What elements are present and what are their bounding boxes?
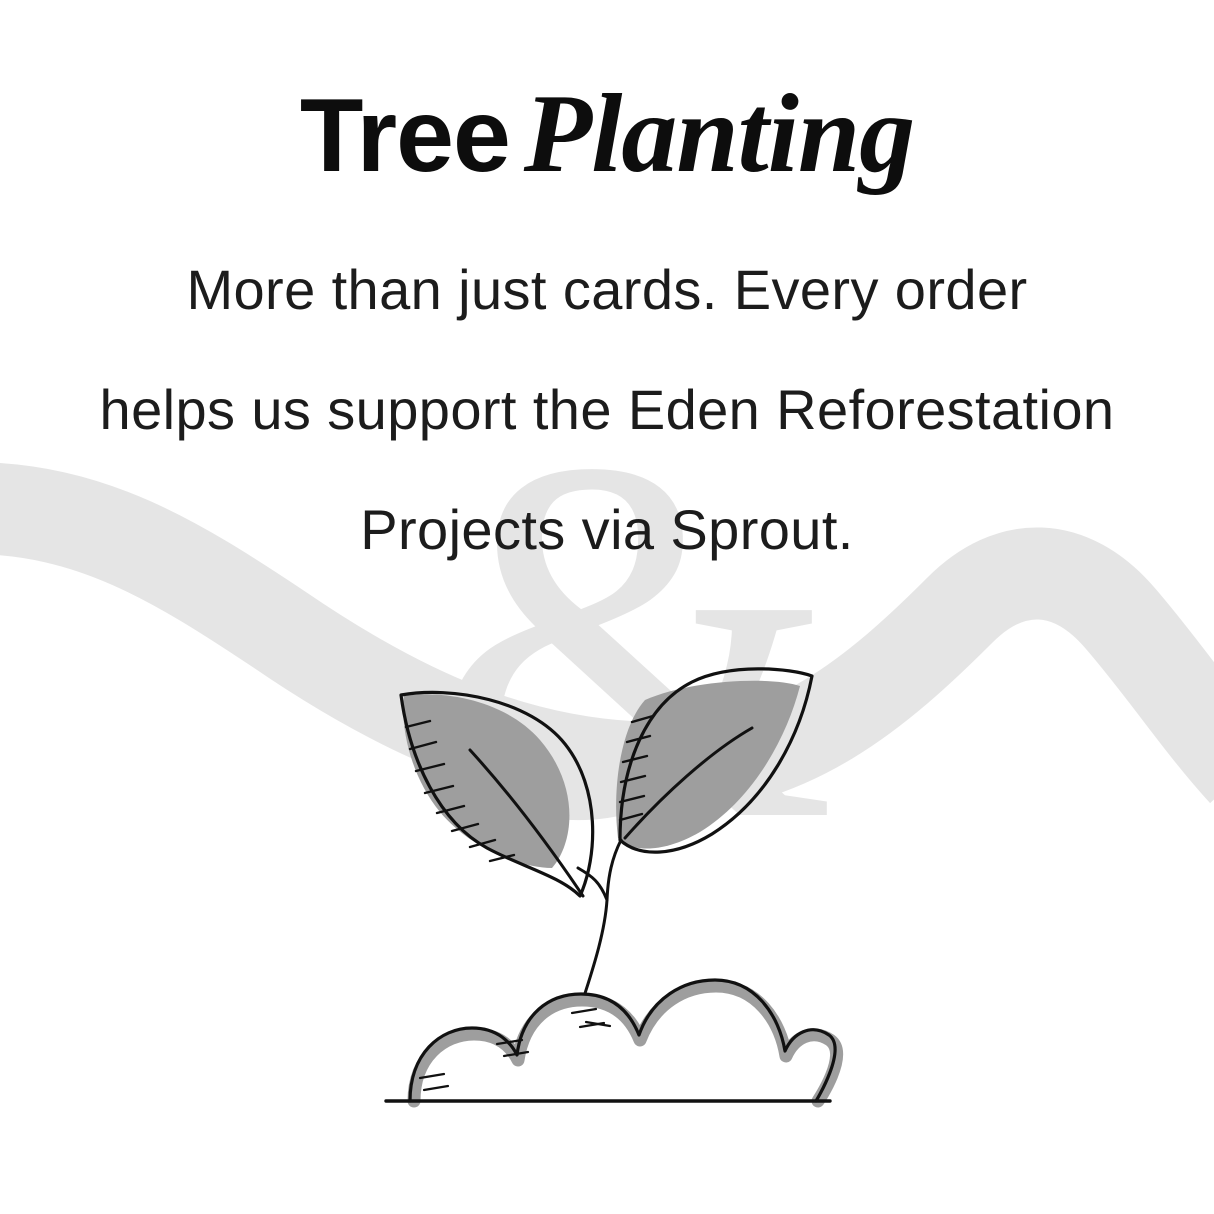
tree-planting-card: & TreePlanting More than just cards. Eve…	[0, 0, 1214, 1214]
right-leaf	[616, 669, 812, 852]
soil-mound-body	[414, 986, 837, 1101]
left-leaf-vein	[470, 750, 583, 896]
text-block: TreePlanting More than just cards. Every…	[0, 0, 1214, 590]
stem-branch-right	[607, 840, 621, 900]
left-leaf-fill	[403, 694, 569, 868]
right-leaf-hatching	[620, 716, 653, 820]
soil-mound-shadow	[414, 986, 837, 1101]
right-leaf-outline	[620, 669, 812, 852]
stem-stalk	[578, 900, 607, 1018]
stem-branch-left	[578, 868, 607, 900]
soil-texture-ticks	[420, 1009, 610, 1090]
stem	[578, 840, 621, 1018]
title-word-accent: Planting	[524, 72, 914, 196]
right-leaf-fill	[616, 681, 800, 849]
soil-mound	[410, 980, 837, 1101]
page-title: TreePlanting	[0, 0, 1214, 190]
title-word-primary: Tree	[300, 78, 510, 194]
right-leaf-vein	[625, 728, 752, 838]
left-leaf-hatching	[406, 721, 514, 861]
left-leaf-outline	[401, 692, 593, 896]
left-leaf	[401, 692, 593, 896]
subtitle: More than just cards. Every order helps …	[0, 190, 1214, 590]
subtitle-line-1: More than just cards. Every order	[0, 230, 1214, 350]
subtitle-line-3: Projects via Sprout.	[0, 470, 1214, 590]
subtitle-line-2: helps us support the Eden Reforestation	[0, 350, 1214, 470]
soil-mound-outline	[410, 980, 835, 1101]
